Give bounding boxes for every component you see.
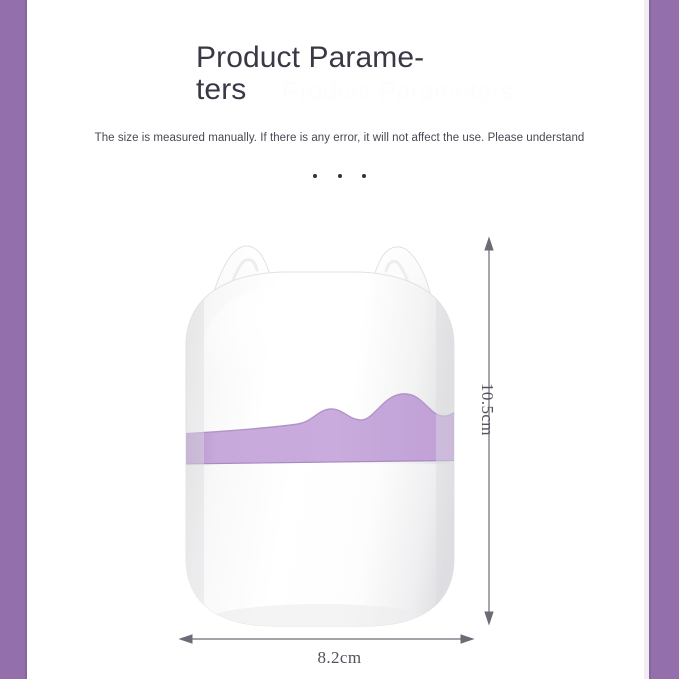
- right-purple-rail: [649, 0, 679, 679]
- divider-dot: [362, 174, 366, 178]
- left-purple-rail: [0, 0, 27, 679]
- page-subtitle: The size is measured manually. If there …: [0, 132, 679, 144]
- product-image: [150, 228, 490, 638]
- width-dimension-label: 8.2cm: [0, 648, 679, 668]
- product-body: [178, 268, 490, 636]
- divider-dots: [0, 167, 679, 185]
- divider-dot: [338, 174, 342, 178]
- page-title: Product Parame- ters: [196, 42, 496, 107]
- page-title-line-2: ters: [196, 74, 496, 106]
- divider-dot: [313, 174, 317, 178]
- product-parameter-page: Product Parame- ters Product Parameters …: [0, 0, 679, 679]
- page-title-line-1: Product Parame-: [196, 42, 496, 74]
- height-dimension-label: 10.5cm: [477, 383, 497, 436]
